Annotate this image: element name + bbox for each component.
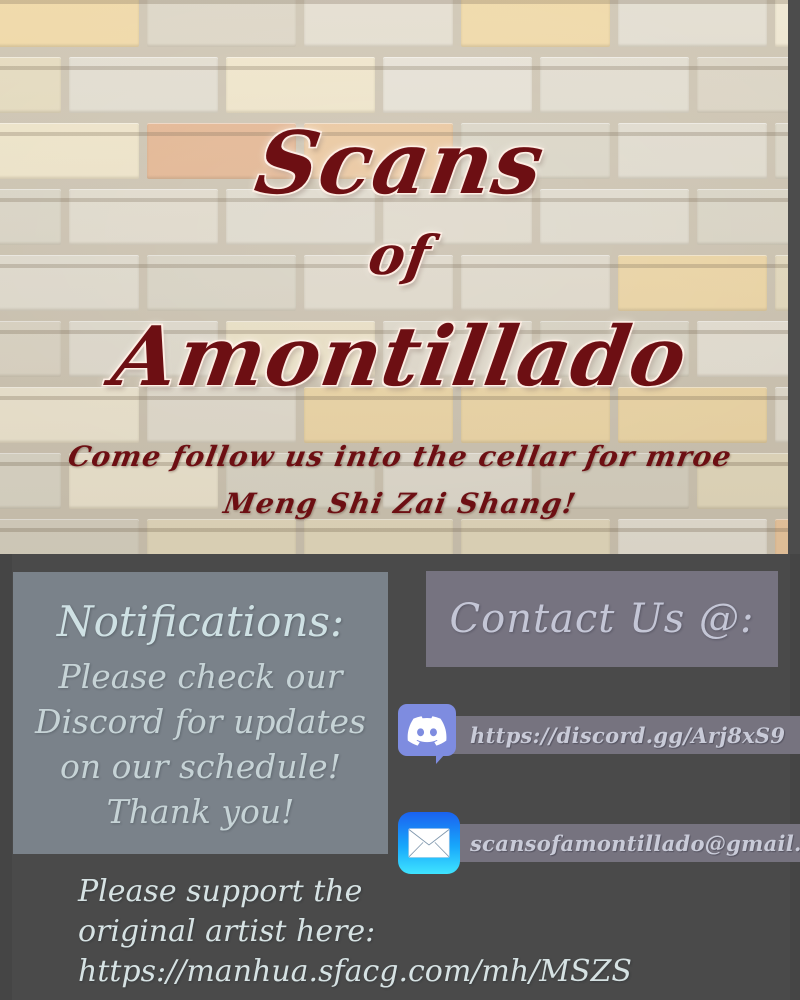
brick <box>304 519 453 554</box>
support-artist-url[interactable]: https://manhua.sfacg.com/mh/MSZS <box>78 952 718 992</box>
contact-row-email[interactable]: scansofamontillado@gmail.com <box>398 812 800 874</box>
brick <box>304 387 453 443</box>
credits-page: Scans of Amontillado Come follow us into… <box>0 0 800 1000</box>
brick <box>0 0 139 47</box>
brick <box>618 255 767 311</box>
discord-link-text[interactable]: https://discord.gg/Arj8xS9 <box>470 723 785 748</box>
brick-row <box>0 516 800 554</box>
support-line-1: Please support the <box>78 872 718 912</box>
brick <box>147 519 296 554</box>
lower-right-edge <box>790 554 800 1000</box>
brick <box>69 189 218 245</box>
brick <box>461 387 610 443</box>
brick <box>383 321 532 377</box>
email-link-text[interactable]: scansofamontillado@gmail.com <box>470 831 800 856</box>
brick <box>540 57 689 113</box>
brick <box>69 321 218 377</box>
brick <box>618 0 767 47</box>
discord-bubble-tail <box>436 744 454 764</box>
brick <box>147 255 296 311</box>
discord-logo-glyph <box>407 716 447 746</box>
brick <box>618 123 767 179</box>
brick <box>461 255 610 311</box>
notifications-panel: Notifications: Please check our Discord … <box>13 572 388 854</box>
brick <box>697 453 800 509</box>
brick <box>226 453 375 509</box>
brick <box>697 57 800 113</box>
brick <box>461 0 610 47</box>
brick <box>147 123 296 179</box>
contact-title: Contact Us @: <box>450 596 755 642</box>
mail-icon[interactable] <box>398 812 460 874</box>
brick-row <box>0 0 800 54</box>
brick <box>0 519 139 554</box>
brick <box>304 123 453 179</box>
brick <box>618 387 767 443</box>
brick <box>226 321 375 377</box>
brick <box>304 255 453 311</box>
notifications-line: Thank you! <box>13 789 388 834</box>
brick <box>461 123 610 179</box>
notifications-body: Please check our Discord for updates on … <box>13 654 388 834</box>
notifications-line: Please check our <box>13 654 388 699</box>
notifications-title: Notifications: <box>13 598 388 646</box>
brick-wall-background <box>0 0 800 554</box>
brick-row <box>0 186 800 252</box>
brick <box>618 519 767 554</box>
notifications-line: Discord for updates <box>13 699 388 744</box>
brick <box>540 189 689 245</box>
brick <box>0 453 61 509</box>
contact-row-discord[interactable]: https://discord.gg/Arj8xS9 <box>398 704 800 766</box>
brick <box>0 189 61 245</box>
brick <box>697 321 800 377</box>
wall-right-edge <box>788 0 800 554</box>
envelope-glyph <box>408 828 450 858</box>
contact-panel: Contact Us @: <box>426 571 778 667</box>
discord-icon[interactable] <box>398 704 460 766</box>
brick <box>0 57 61 113</box>
brick <box>147 0 296 47</box>
notifications-line: on our schedule! <box>13 744 388 789</box>
brick <box>383 57 532 113</box>
brick <box>69 453 218 509</box>
brick <box>383 189 532 245</box>
brick-row <box>0 252 800 318</box>
discord-link-plate[interactable]: https://discord.gg/Arj8xS9 <box>432 716 800 754</box>
brick <box>383 453 532 509</box>
brick <box>69 57 218 113</box>
brick <box>147 387 296 443</box>
brick <box>540 453 689 509</box>
brick <box>0 321 61 377</box>
brick <box>0 387 139 443</box>
lower-left-edge <box>0 554 12 1000</box>
brick <box>226 57 375 113</box>
brick-pattern <box>0 0 800 554</box>
brick <box>226 189 375 245</box>
brick <box>0 123 139 179</box>
brick <box>461 519 610 554</box>
brick <box>304 0 453 47</box>
brick <box>697 189 800 245</box>
brick <box>0 255 139 311</box>
brick-row <box>0 54 800 120</box>
brick-row <box>0 318 800 384</box>
email-link-plate[interactable]: scansofamontillado@gmail.com <box>432 824 800 862</box>
brick-row <box>0 450 800 516</box>
brick-row <box>0 384 800 450</box>
support-artist-text: Please support the original artist here:… <box>78 872 718 992</box>
brick-row <box>0 120 800 186</box>
brick <box>540 321 689 377</box>
support-line-2: original artist here: <box>78 912 718 952</box>
